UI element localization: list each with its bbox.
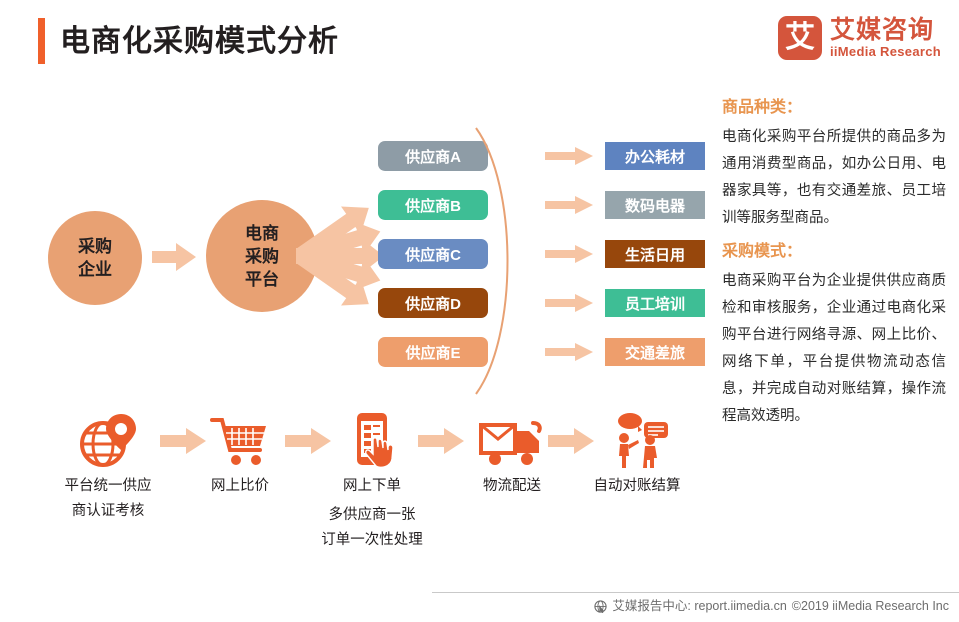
slide-root: 电商化采购模式分析 艾 艾媒咨询 iiMedia Research 商品种类： … bbox=[0, 0, 959, 622]
section-body-product-types: 电商化采购平台所提供的商品多为通用消费型商品，如办公日用、电器家具等，也有交通差… bbox=[722, 124, 946, 232]
arrow-to-category-1 bbox=[545, 147, 593, 165]
globe-cursor-icon bbox=[594, 600, 607, 613]
page-title: 电商化采购模式分析 bbox=[60, 20, 339, 64]
arrow-to-category-5 bbox=[545, 343, 593, 361]
section-heading-procurement-mode: 采购模式： bbox=[722, 240, 946, 264]
node-buyer-line1: 采购 bbox=[78, 235, 112, 258]
category-box-office-supplies[interactable]: 办公耗材 bbox=[605, 142, 705, 170]
category-box-daily-necessities[interactable]: 生活日用 bbox=[605, 240, 705, 268]
flow-label-price-compare: 网上比价 bbox=[165, 476, 315, 497]
supplier-label-a: 供应商A bbox=[405, 146, 461, 167]
category-box-staff-training[interactable]: 员工培训 bbox=[605, 289, 705, 317]
section-heading-product-types: 商品种类： bbox=[722, 96, 946, 120]
header: 电商化采购模式分析 艾 艾媒咨询 iiMedia Research bbox=[0, 0, 959, 88]
process-flow: 平台统一供应 商认证考核 网上比价 bbox=[0, 410, 720, 560]
footer: 艾媒报告中心: report.iimedia.cn ©2019 iiMedia … bbox=[0, 592, 959, 622]
category-box-travel[interactable]: 交通差旅 bbox=[605, 338, 705, 366]
supplier-label-c: 供应商C bbox=[405, 244, 461, 265]
category-label-travel: 交通差旅 bbox=[625, 342, 685, 363]
description-panel: 商品种类： 电商化采购平台所提供的商品多为通用消费型商品，如办公日用、电器家具等… bbox=[722, 96, 946, 438]
footer-source: 艾媒报告中心: report.iimedia.cn bbox=[612, 597, 786, 615]
supplier-label-d: 供应商D bbox=[405, 293, 461, 314]
category-label-digital-appliance: 数码电器 bbox=[625, 195, 685, 216]
title-accent-bar bbox=[38, 18, 45, 64]
flow-sub-online-order-line2: 订单一次性处理 bbox=[297, 530, 447, 551]
procurement-diagram: 采购 企业 电商 采购 平台 bbox=[0, 96, 720, 396]
category-label-daily-necessities: 生活日用 bbox=[625, 244, 685, 265]
flow-label-certification-line2: 商认证考核 bbox=[33, 501, 183, 522]
node-buyer-enterprise: 采购 企业 bbox=[48, 211, 142, 305]
node-platform-line1: 电商 bbox=[245, 222, 279, 245]
supplier-label-e: 供应商E bbox=[405, 342, 460, 363]
logo-mark-icon: 艾 bbox=[778, 16, 822, 60]
category-box-digital-appliance[interactable]: 数码电器 bbox=[605, 191, 705, 219]
supplier-group-brace bbox=[470, 126, 530, 396]
supplier-label-b: 供应商B bbox=[405, 195, 461, 216]
node-platform-line3: 平台 bbox=[245, 268, 279, 291]
logo-mark-char: 艾 bbox=[785, 16, 815, 60]
flow-label-auto-settlement: 自动对账结算 bbox=[562, 476, 712, 497]
category-label-staff-training: 员工培训 bbox=[625, 293, 685, 314]
arrow-to-category-2 bbox=[545, 196, 593, 214]
people-chat-icon bbox=[562, 410, 712, 472]
arrow-buyer-to-platform bbox=[152, 242, 196, 272]
arrow-to-category-4 bbox=[545, 294, 593, 312]
flow-label-online-order: 网上下单 bbox=[297, 476, 447, 497]
footer-divider bbox=[432, 592, 959, 593]
node-platform-line2: 采购 bbox=[245, 245, 279, 268]
logo-name-en: iiMedia Research bbox=[830, 44, 941, 60]
flow-label-certification-line1: 平台统一供应 bbox=[33, 476, 183, 497]
category-label-office-supplies: 办公耗材 bbox=[625, 146, 685, 167]
flow-step-auto-settlement: 自动对账结算 bbox=[562, 410, 712, 497]
logo-name-cn: 艾媒咨询 bbox=[830, 17, 941, 44]
brand-logo: 艾 艾媒咨询 iiMedia Research bbox=[778, 16, 941, 60]
node-buyer-line2: 企业 bbox=[78, 258, 112, 281]
section-body-procurement-mode: 电商采购平台为企业提供供应商质检和审核服务，企业通过电商化采购平台进行网络寻源、… bbox=[722, 268, 946, 430]
arrow-to-category-3 bbox=[545, 245, 593, 263]
footer-text: 艾媒报告中心: report.iimedia.cn ©2019 iiMedia … bbox=[594, 597, 949, 615]
footer-copyright: ©2019 iiMedia Research Inc bbox=[792, 597, 949, 615]
flow-step-certification: 平台统一供应 商认证考核 bbox=[33, 410, 183, 522]
logo-text: 艾媒咨询 iiMedia Research bbox=[830, 17, 941, 60]
flow-sub-online-order-line1: 多供应商一张 bbox=[297, 505, 447, 526]
